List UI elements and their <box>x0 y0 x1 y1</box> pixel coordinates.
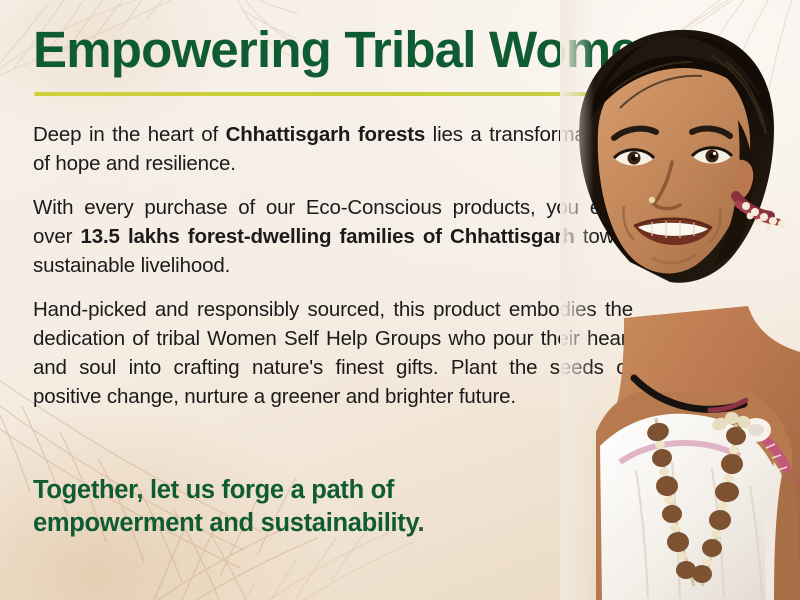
paragraph-sourcing: Hand-picked and responsibly sourced, thi… <box>33 295 633 411</box>
closing-statement: Together, let us forge a path of empower… <box>33 474 553 540</box>
portrait-photo <box>560 0 800 600</box>
poster-canvas: Empowering Tribal Women Deep in the hear… <box>0 0 800 600</box>
